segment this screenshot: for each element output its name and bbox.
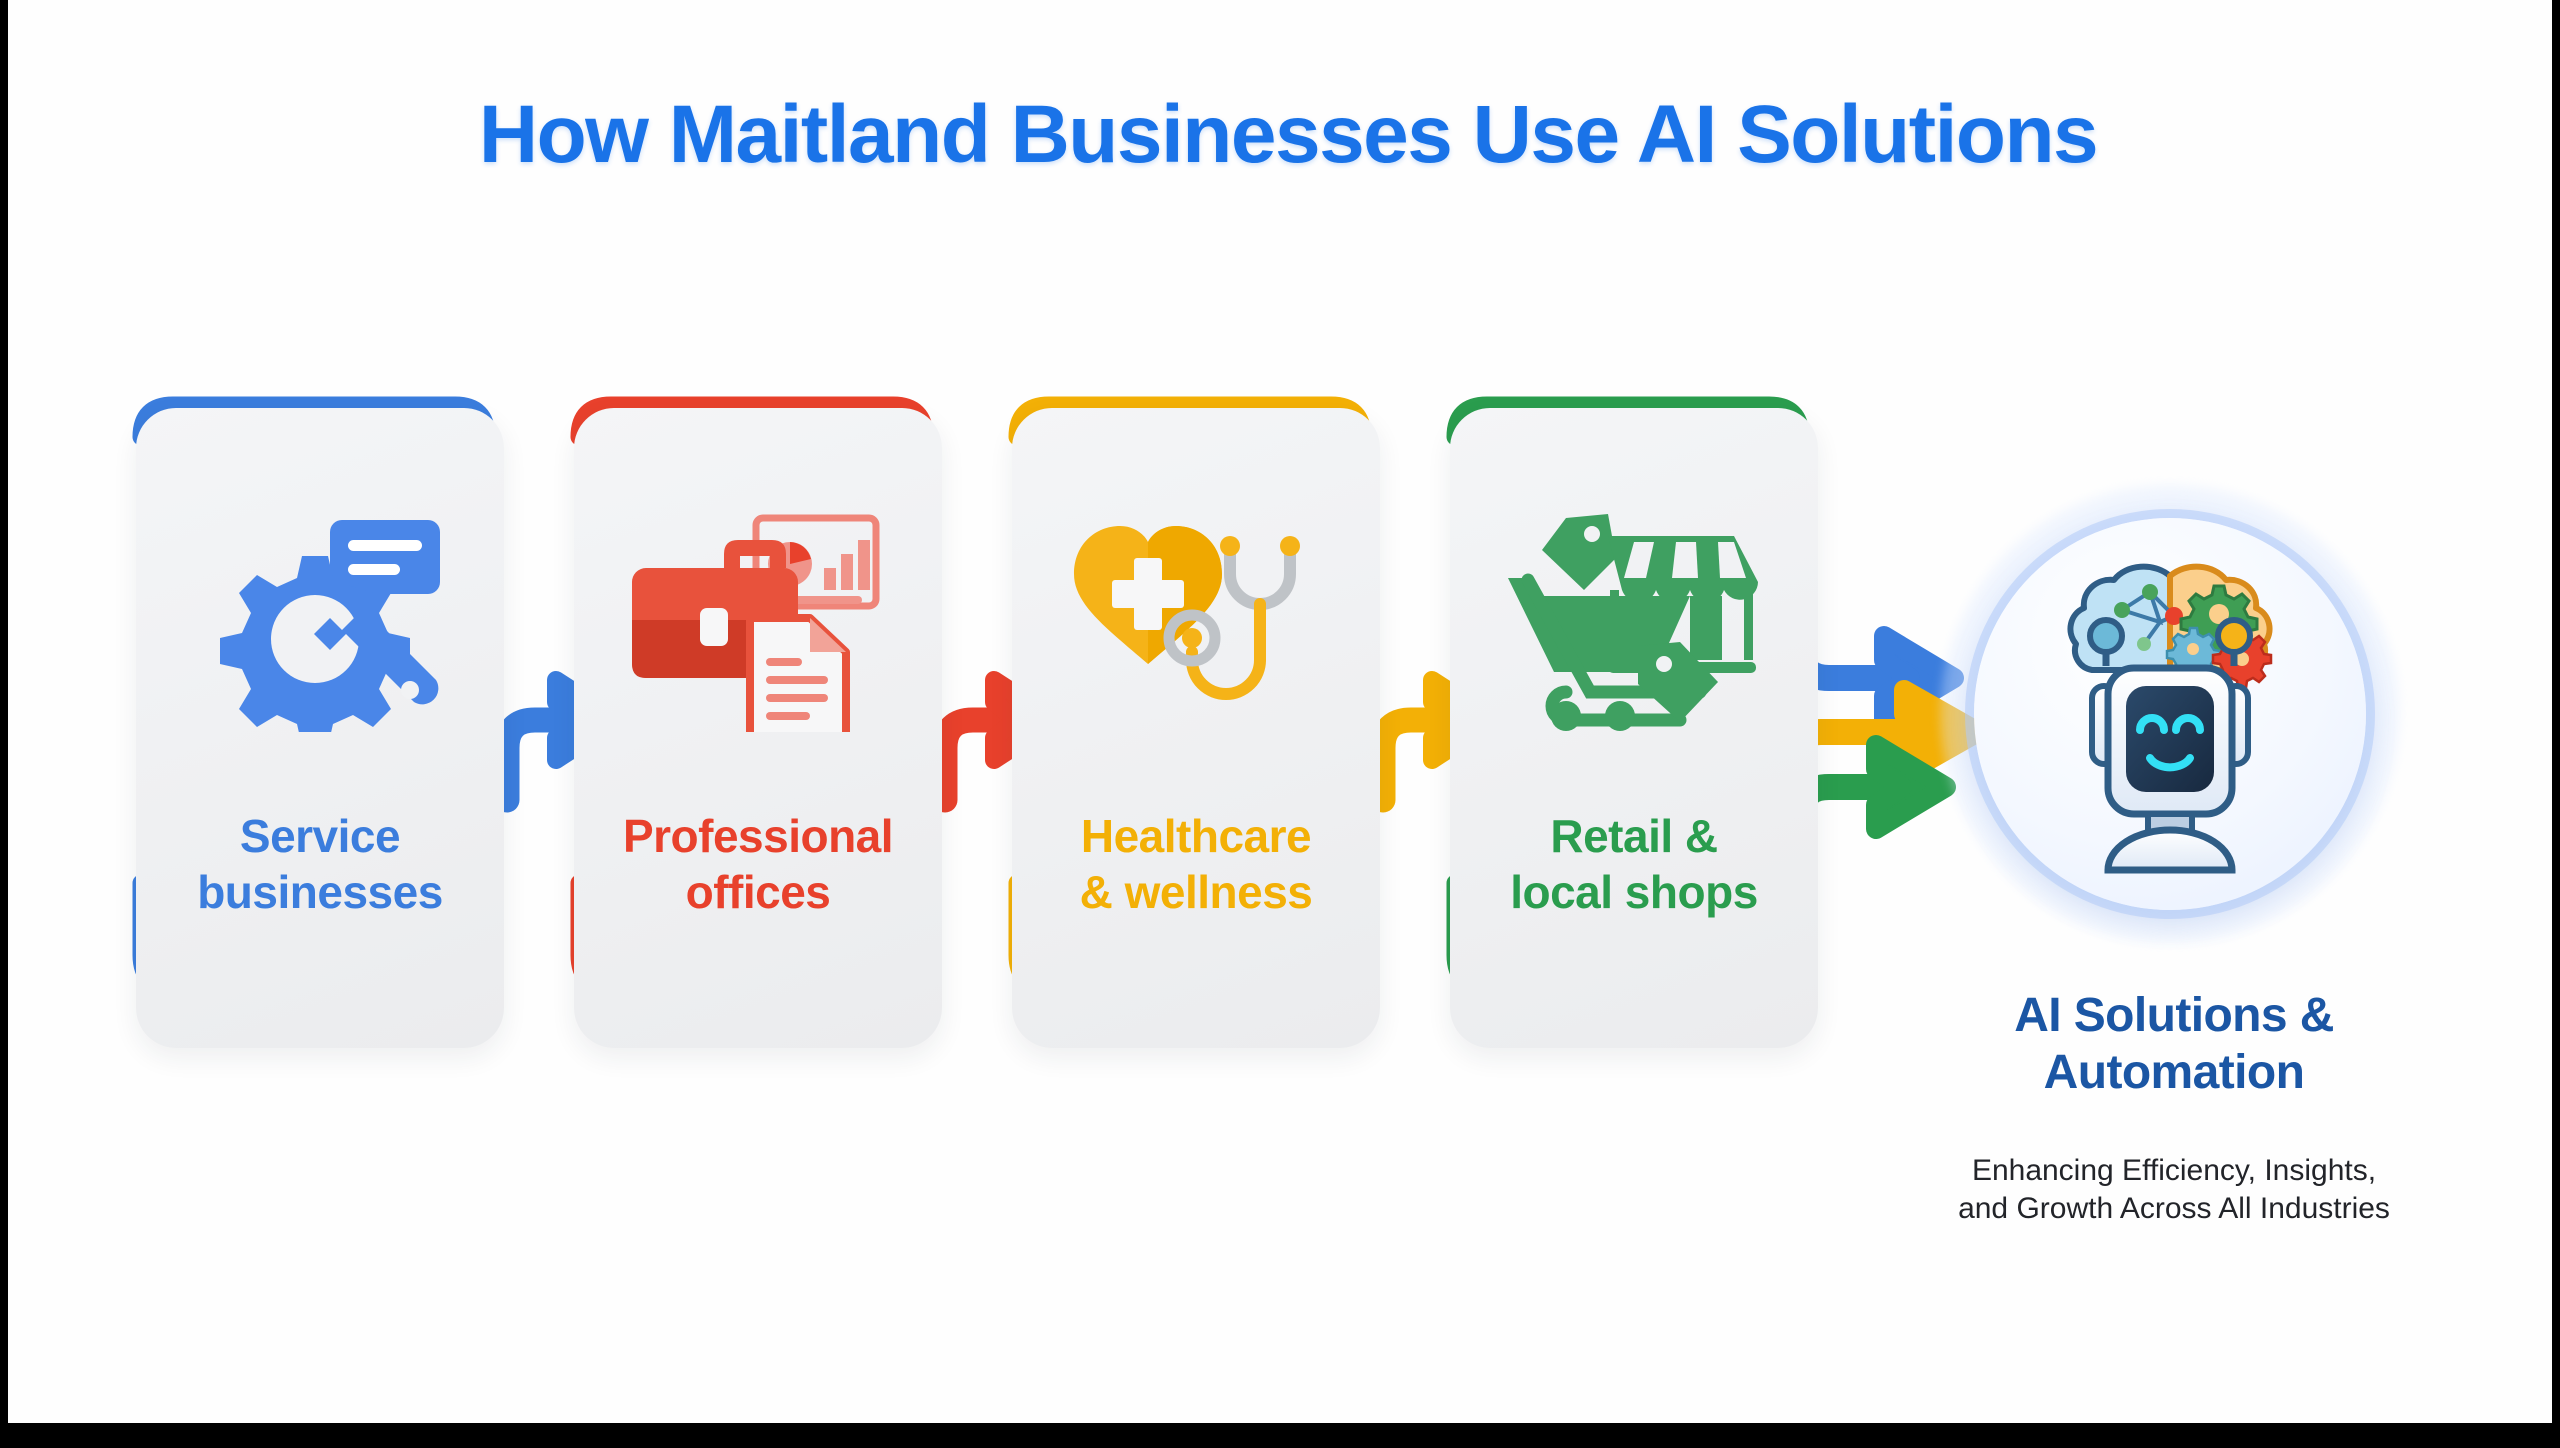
card-label-line2: businesses: [197, 866, 443, 918]
card-label: Healthcare & wellness: [1012, 808, 1380, 920]
card-label-line2: & wellness: [1080, 866, 1313, 918]
gear-wrench-chat-icon: [190, 512, 450, 732]
shopping-cart-storefront-tags-icon: [1504, 512, 1764, 732]
card-label: Professional offices: [574, 808, 942, 920]
card-label: Retail & local shops: [1450, 808, 1818, 920]
card-label-line1: Service: [240, 810, 400, 862]
card-healthcare-wellness[interactable]: Healthcare & wellness: [1012, 408, 1380, 1048]
briefcase-chart-document-icon: [628, 512, 888, 732]
card-retail-local-shops[interactable]: Retail & local shops: [1450, 408, 1818, 1048]
hub-subtitle: Enhancing Efficiency, Insights, and Grow…: [1894, 1152, 2454, 1229]
hub-title: AI Solutions & Automation: [1924, 988, 2424, 1101]
card-label: Service businesses: [136, 808, 504, 920]
hub-title-line1: AI Solutions &: [2014, 989, 2334, 1042]
ai-robot-brain-icon: [1974, 518, 2366, 910]
card-service-businesses[interactable]: Service businesses: [136, 408, 504, 1048]
card-label-line2: local shops: [1510, 866, 1758, 918]
heart-cross-stethoscope-icon: [1066, 512, 1326, 732]
card-label-line1: Professional: [623, 810, 893, 862]
hub-subtitle-line2: and Growth Across All Industries: [1958, 1192, 2390, 1225]
card-label-line1: Healthcare: [1081, 810, 1311, 862]
infographic-canvas: How Maitland Businesses Use AI Solutions: [8, 0, 2552, 1423]
card-professional-offices[interactable]: Professional offices: [574, 408, 942, 1048]
ai-hub[interactable]: [1974, 518, 2366, 910]
hub-subtitle-line1: Enhancing Efficiency, Insights,: [1972, 1154, 2376, 1187]
hub-title-line2: Automation: [2044, 1046, 2305, 1099]
card-label-line2: offices: [686, 866, 831, 918]
card-label-line1: Retail &: [1550, 810, 1717, 862]
converging-arrow-green: [1801, 745, 1946, 1010]
